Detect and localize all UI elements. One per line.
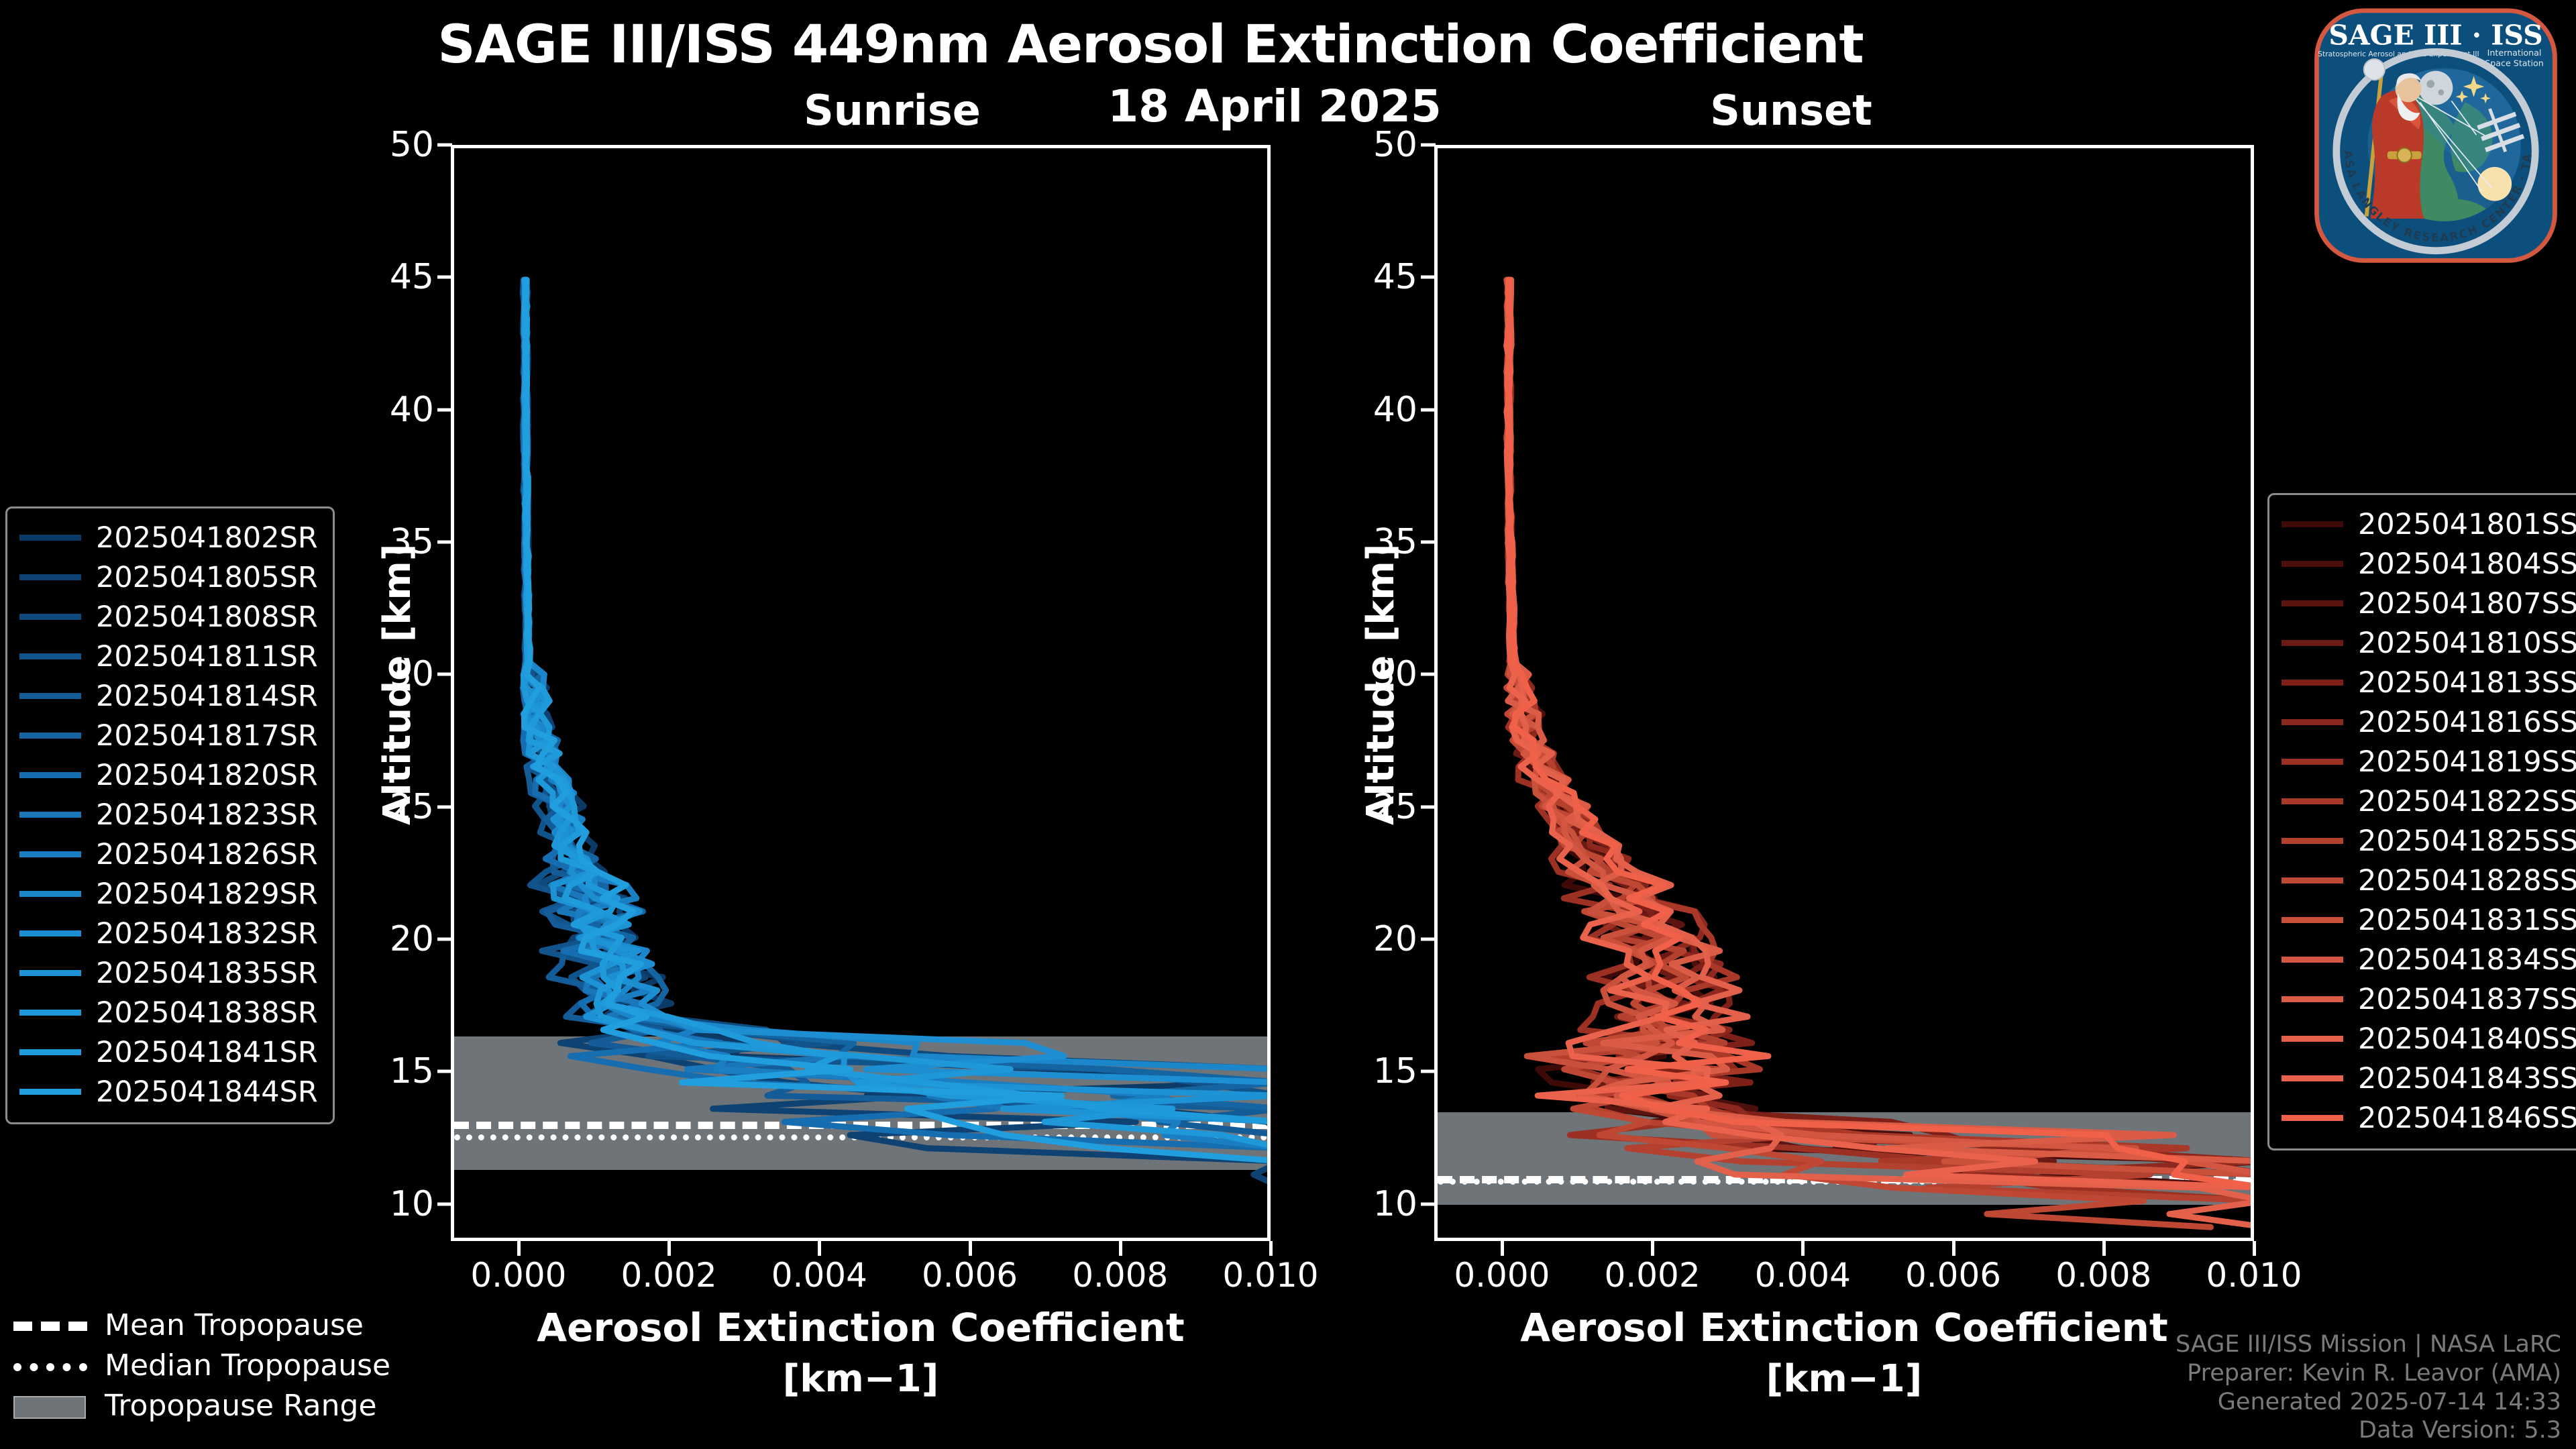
y-axis-tick-label: 10 — [1317, 1184, 1417, 1224]
legend-item[interactable]: 2025041801SS — [2282, 504, 2576, 544]
series-legend-sunrise[interactable]: 2025041802SR2025041805SR2025041808SR2025… — [5, 506, 335, 1124]
legend-color-swatch — [2282, 798, 2343, 804]
legend-color-swatch — [2282, 957, 2343, 963]
y-axis-tick-label: 40 — [1317, 390, 1417, 430]
legend-color-swatch — [2282, 600, 2343, 606]
x-axis-label-text-sunrise: Aerosol Extinction Coefficient — [537, 1305, 1184, 1350]
x-axis-tick-mark — [1501, 1241, 1504, 1256]
legend-item-label: 2025041840SS — [2358, 1022, 2576, 1056]
legend-item-label: 2025041838SR — [96, 996, 318, 1030]
legend-color-swatch — [19, 851, 81, 857]
legend-color-swatch — [2282, 759, 2343, 765]
y-axis-tick-mark — [1421, 938, 1436, 941]
legend-item-label: 2025041810SS — [2358, 627, 2576, 660]
y-axis-tick-mark — [1421, 276, 1436, 279]
x-axis-tick-mark — [667, 1241, 671, 1256]
y-axis-tick-mark — [437, 541, 452, 544]
tropopause-legend-label: Mean Tropopause — [105, 1308, 364, 1342]
legend-color-swatch — [2282, 1115, 2343, 1121]
x-axis-label-sunrise: Aerosol Extinction Coefficient [km−1] — [451, 1305, 1271, 1401]
legend-item[interactable]: 2025041826SR — [19, 835, 318, 874]
x-axis-unit-sunset: [km−1] — [1434, 1357, 2254, 1401]
legend-item[interactable]: 2025041840SS — [2282, 1019, 2576, 1059]
y-axis-tick-label: 50 — [333, 125, 434, 165]
legend-item-label: 2025041817SR — [96, 719, 318, 753]
y-axis-tick-mark — [1421, 408, 1436, 411]
aerosol-profile-curves-sunset — [1438, 148, 2251, 1238]
x-axis-tick-mark — [1801, 1241, 1805, 1256]
legend-item[interactable]: 2025041819SS — [2282, 742, 2576, 782]
legend-color-swatch — [19, 574, 81, 580]
footer-line: Preparer: Kevin R. Leavor (AMA) — [2176, 1359, 2561, 1388]
legend-item-label: 2025041801SS — [2358, 508, 2576, 541]
y-axis-tick-mark — [437, 1070, 452, 1073]
legend-item[interactable]: 2025041844SR — [19, 1072, 318, 1112]
tropopause-legend-label: Median Tropopause — [105, 1348, 390, 1383]
x-axis-tick-label: 0.000 — [431, 1256, 606, 1295]
legend-color-swatch — [19, 812, 81, 818]
y-axis-tick-mark — [1421, 805, 1436, 808]
x-axis-unit-sunrise: [km−1] — [451, 1357, 1271, 1401]
legend-item[interactable]: 2025041813SS — [2282, 663, 2576, 702]
legend-item[interactable]: 2025041823SR — [19, 795, 318, 835]
legend-item[interactable]: 2025041837SS — [2282, 979, 2576, 1019]
y-axis-tick-mark — [437, 1202, 452, 1205]
tropopause-legend[interactable]: Mean TropopauseMedian TropopauseTropopau… — [13, 1305, 390, 1426]
legend-item[interactable]: 2025041829SR — [19, 874, 318, 914]
legend-color-swatch — [19, 733, 81, 739]
legend-color-swatch — [2282, 877, 2343, 883]
tropopause-legend-item[interactable]: Tropopause Range — [13, 1385, 390, 1426]
x-axis-tick-mark — [969, 1241, 972, 1256]
legend-item-label: 2025041843SS — [2358, 1062, 2576, 1095]
footer-credits: SAGE III/ISS Mission | NASA LaRCPreparer… — [2176, 1330, 2561, 1445]
legend-item[interactable]: 2025041817SR — [19, 716, 318, 755]
legend-item[interactable]: 2025041808SR — [19, 597, 318, 637]
legend-item-label: 2025041823SR — [96, 798, 318, 832]
x-axis-tick-label: 0.002 — [1565, 1256, 1739, 1295]
y-axis-tick-label: 50 — [1317, 125, 1417, 165]
legend-item-label: 2025041846SS — [2358, 1102, 2576, 1135]
legend-item[interactable]: 2025041838SR — [19, 993, 318, 1032]
dashed-line-icon — [13, 1318, 87, 1332]
footer-line: Data Version: 5.3 — [2176, 1416, 2561, 1445]
legend-item[interactable]: 2025041828SS — [2282, 861, 2576, 900]
legend-item[interactable]: 2025041802SR — [19, 518, 318, 557]
legend-item-label: 2025041828SS — [2358, 864, 2576, 898]
footer-line: Generated 2025-07-14 14:33 — [2176, 1388, 2561, 1417]
legend-color-swatch — [19, 1049, 81, 1055]
y-axis-tick-mark — [1421, 541, 1436, 544]
legend-color-swatch — [2282, 521, 2343, 527]
legend-color-swatch — [2282, 680, 2343, 686]
y-axis-tick-mark — [1421, 1202, 1436, 1205]
legend-color-swatch — [19, 693, 81, 699]
sunrise-panel-label: Sunrise — [751, 86, 1033, 135]
legend-color-swatch — [2282, 719, 2343, 725]
y-axis-tick-mark — [437, 805, 452, 808]
y-axis-tick-label: 20 — [333, 919, 434, 959]
y-axis-tick-label: 40 — [333, 390, 434, 430]
logo-moon-icon — [2419, 71, 2453, 105]
legend-item-label: 2025041816SS — [2358, 706, 2576, 739]
legend-item[interactable]: 2025041807SS — [2282, 584, 2576, 623]
y-axis-tick-mark — [1421, 1070, 1436, 1073]
legend-color-swatch — [19, 930, 81, 936]
x-axis-label-text-sunset: Aerosol Extinction Coefficient — [1520, 1305, 2167, 1350]
legend-color-swatch — [2282, 561, 2343, 567]
legend-color-swatch — [19, 614, 81, 620]
footer-line: SAGE III/ISS Mission | NASA LaRC — [2176, 1330, 2561, 1359]
legend-item[interactable]: 2025041841SR — [19, 1032, 318, 1072]
dotted-line-icon — [13, 1358, 87, 1373]
legend-color-swatch — [2282, 640, 2343, 646]
y-axis-tick-label: 45 — [1317, 257, 1417, 297]
legend-color-swatch — [2282, 996, 2343, 1002]
y-axis-tick-mark — [437, 408, 452, 411]
legend-item[interactable]: 2025041820SR — [19, 755, 318, 795]
observation-date: 18 April 2025 — [1033, 80, 1516, 132]
legend-item-label: 2025041819SS — [2358, 745, 2576, 779]
x-axis-tick-label: 0.010 — [2167, 1256, 2341, 1295]
series-legend-sunset[interactable]: 2025041801SS2025041804SS2025041807SS2025… — [2267, 493, 2576, 1150]
legend-item[interactable]: 2025041805SR — [19, 557, 318, 597]
y-axis-label-sunset: Altitude [km] — [1359, 544, 1403, 825]
x-axis-tick-mark — [2253, 1241, 2256, 1256]
plot-panel-sunset — [1434, 145, 2254, 1241]
legend-item[interactable]: 2025041814SR — [19, 676, 318, 716]
y-axis-tick-label: 20 — [1317, 919, 1417, 959]
y-axis-tick-mark — [437, 673, 452, 676]
x-axis-tick-label: 0.008 — [1033, 1256, 1207, 1295]
legend-item-label: 2025041802SR — [96, 521, 318, 555]
y-axis-tick-mark — [437, 144, 452, 147]
logo-title: SAGE III · ISS — [2328, 19, 2542, 52]
legend-item[interactable]: 2025041825SS — [2282, 821, 2576, 861]
legend-item-label: 2025041804SS — [2358, 547, 2576, 581]
legend-item[interactable]: 2025041816SS — [2282, 702, 2576, 742]
profile-line — [1508, 280, 2251, 1227]
legend-item-label: 2025041811SR — [96, 640, 318, 674]
logo-subtitle-right-line1: International — [2487, 48, 2542, 58]
x-axis-tick-label: 0.004 — [732, 1256, 906, 1295]
x-axis-tick-label: 0.006 — [883, 1256, 1057, 1295]
legend-item[interactable]: 2025041831SS — [2282, 900, 2576, 940]
legend-item-label: 2025041831SS — [2358, 904, 2576, 937]
y-axis-tick-label: 45 — [333, 257, 434, 297]
legend-item-label: 2025041822SS — [2358, 785, 2576, 818]
x-axis-tick-mark — [1651, 1241, 1654, 1256]
legend-item-label: 2025041825SS — [2358, 824, 2576, 858]
y-axis-tick-label: 15 — [1317, 1051, 1417, 1091]
legend-item[interactable]: 2025041810SS — [2282, 623, 2576, 663]
legend-item-label: 2025041837SS — [2358, 983, 2576, 1016]
legend-color-swatch — [2282, 838, 2343, 844]
legend-item[interactable]: 2025041804SS — [2282, 544, 2576, 584]
legend-item-label: 2025041832SR — [96, 917, 318, 951]
x-axis-tick-mark — [1269, 1241, 1273, 1256]
legend-item-label: 2025041820SR — [96, 759, 318, 792]
x-axis-tick-label: 0.010 — [1183, 1256, 1358, 1295]
legend-color-swatch — [19, 1089, 81, 1095]
x-axis-tick-label: 0.000 — [1415, 1256, 1589, 1295]
legend-item-label: 2025041841SR — [96, 1036, 318, 1069]
legend-item[interactable]: 2025041835SR — [19, 953, 318, 993]
legend-color-swatch — [19, 891, 81, 897]
x-axis-tick-label: 0.008 — [2017, 1256, 2191, 1295]
legend-item-label: 2025041814SR — [96, 680, 318, 713]
y-axis-label-sunrise: Altitude [km] — [376, 544, 419, 825]
sunset-panel-label: Sunset — [1650, 86, 1932, 135]
legend-item-label: 2025041808SR — [96, 600, 318, 634]
legend-color-swatch — [19, 653, 81, 659]
plot-panel-sunrise — [451, 145, 1271, 1241]
legend-color-swatch — [19, 772, 81, 778]
x-axis-label-sunset: Aerosol Extinction Coefficient [km−1] — [1434, 1305, 2254, 1401]
legend-color-swatch — [2282, 1075, 2343, 1081]
x-axis-tick-mark — [1119, 1241, 1122, 1256]
y-axis-tick-mark — [1421, 673, 1436, 676]
legend-color-swatch — [19, 535, 81, 541]
shaded-box-icon — [13, 1398, 87, 1413]
legend-color-swatch — [2282, 917, 2343, 923]
y-axis-tick-mark — [437, 938, 452, 941]
legend-item[interactable]: 2025041843SS — [2282, 1059, 2576, 1098]
legend-item-label: 2025041805SR — [96, 561, 318, 594]
y-axis-tick-mark — [1421, 144, 1436, 147]
tropopause-legend-item[interactable]: Median Tropopause — [13, 1345, 390, 1385]
legend-color-swatch — [19, 970, 81, 976]
legend-item-label: 2025041834SS — [2358, 943, 2576, 977]
x-axis-tick-mark — [818, 1241, 821, 1256]
legend-item-label: 2025041807SS — [2358, 587, 2576, 621]
x-axis-tick-mark — [2102, 1241, 2106, 1256]
y-axis-tick-label: 10 — [333, 1184, 434, 1224]
page-title: SAGE III/ISS 449nm Aerosol Extinction Co… — [0, 15, 2301, 75]
x-axis-tick-mark — [1952, 1241, 1955, 1256]
aerosol-profile-curves-sunrise — [454, 148, 1267, 1238]
legend-item[interactable]: 2025041811SR — [19, 637, 318, 676]
legend-item-label: 2025041835SR — [96, 957, 318, 990]
legend-item[interactable]: 2025041822SS — [2282, 782, 2576, 821]
legend-item-label: 2025041826SR — [96, 838, 318, 871]
tropopause-legend-label: Tropopause Range — [105, 1389, 377, 1423]
legend-item-label: 2025041829SR — [96, 877, 318, 911]
x-axis-tick-label: 0.004 — [1715, 1256, 1890, 1295]
legend-item[interactable]: 2025041846SS — [2282, 1098, 2576, 1138]
legend-color-swatch — [19, 1010, 81, 1016]
sage3-iss-mission-patch-logo: SAGE III · ISS Stratospheric Aerosol and… — [2305, 4, 2567, 272]
y-axis-tick-mark — [437, 276, 452, 279]
x-axis-tick-label: 0.002 — [582, 1256, 756, 1295]
legend-item[interactable]: 2025041832SR — [19, 914, 318, 953]
legend-item-label: 2025041844SR — [96, 1075, 318, 1109]
tropopause-legend-item[interactable]: Mean Tropopause — [13, 1305, 390, 1345]
y-axis-tick-label: 15 — [333, 1051, 434, 1091]
x-axis-tick-mark — [517, 1241, 521, 1256]
legend-item[interactable]: 2025041834SS — [2282, 940, 2576, 979]
legend-item-label: 2025041813SS — [2358, 666, 2576, 700]
legend-color-swatch — [2282, 1036, 2343, 1042]
x-axis-tick-label: 0.006 — [1866, 1256, 2041, 1295]
